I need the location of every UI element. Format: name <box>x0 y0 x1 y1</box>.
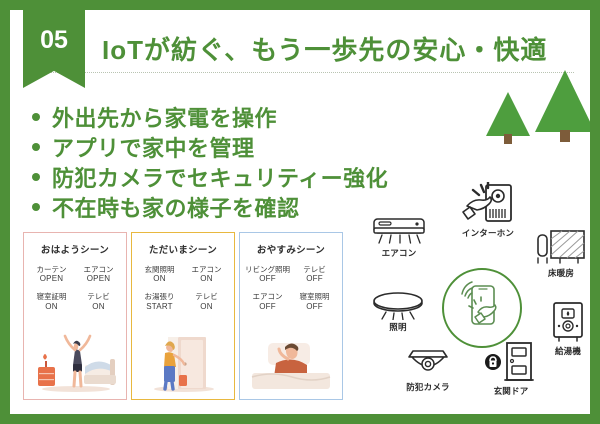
scene-device-cell: エアコン ON <box>183 265 230 284</box>
device-state: START <box>136 302 183 312</box>
scene-card-goodnight: おやすみシーン リビング照明 OFF テレビ OFF エアコン OFF <box>239 232 343 400</box>
pine-tree-icon <box>535 70 590 142</box>
smartphone-tap-wifi-icon <box>444 270 519 345</box>
device-state: OFF <box>244 302 291 312</box>
smartphone-hub-badge <box>442 268 522 348</box>
device-state: ON <box>28 302 75 312</box>
scene-card-homecoming: ただいまシーン 玄関照明 ON エアコン ON お湯張り START <box>131 232 235 400</box>
scene-card-title: ただいまシーン <box>132 242 234 256</box>
tree-trunk-shape <box>560 130 570 142</box>
slide-canvas: 05 IoTが紡ぐ、もう一歩先の安心・快適 外出先から家電を操作 アプリで家中を… <box>0 0 600 424</box>
scene-device-cell: お湯張り START <box>136 292 183 311</box>
feature-bullet-list: 外出先から家電を操作 アプリで家中を管理 防犯カメラでセキュリティー強化 不在時… <box>32 102 472 222</box>
device-icon-caption: 玄関ドア <box>473 385 549 397</box>
device-icon-caption: エアコン <box>364 247 434 259</box>
device-icon-security-camera: 防犯カメラ <box>388 346 468 393</box>
device-icon-caption: 給湯機 <box>537 345 590 357</box>
scene-card-group: おはようシーン カーテン OPEN エアコン OPEN 寝室証明 ON <box>23 232 343 400</box>
scene-card-title: おやすみシーン <box>240 242 342 256</box>
device-state: ON <box>183 302 230 312</box>
device-state: OFF <box>291 302 338 312</box>
device-label: お湯張り <box>136 292 183 301</box>
device-label: テレビ <box>291 265 338 274</box>
device-label: カーテン <box>28 265 75 274</box>
device-label: 玄関照明 <box>136 265 183 274</box>
scene-card-morning: おはようシーン カーテン OPEN エアコン OPEN 寝室証明 ON <box>23 232 127 400</box>
air-conditioner-icon <box>371 216 427 246</box>
page-title: IoTが紡ぐ、もう一歩先の安心・快適 <box>102 30 572 67</box>
intercom-icon <box>459 182 517 226</box>
scene-device-grid: 玄関照明 ON エアコン ON お湯張り START テレビ ON <box>132 265 234 312</box>
slide-inner-panel: 05 IoTが紡ぐ、もう一歩先の安心・快適 外出先から家電を操作 アプリで家中を… <box>10 10 590 414</box>
scene-device-cell: テレビ ON <box>183 292 230 311</box>
scene-card-title: おはようシーン <box>24 242 126 256</box>
dome-camera-icon <box>404 346 452 380</box>
device-state: OFF <box>244 274 291 284</box>
scene-illustration-homecoming <box>138 331 227 393</box>
device-state: OPEN <box>75 274 122 284</box>
device-state: OPEN <box>28 274 75 284</box>
bullet-label: 防犯カメラでセキュリティー強化 <box>52 161 388 193</box>
scene-device-grid: リビング照明 OFF テレビ OFF エアコン OFF 寝室照明 OFF <box>240 265 342 312</box>
device-icon-water-heater: 給湯機 <box>537 300 590 357</box>
water-heater-icon <box>549 300 587 344</box>
scene-device-cell: テレビ ON <box>75 292 122 311</box>
device-icon-lighting: 照明 <box>366 292 430 333</box>
header-dotted-divider <box>26 72 574 73</box>
pine-tree-small-icon <box>486 92 530 144</box>
section-number: 05 <box>23 26 85 55</box>
device-state: OFF <box>291 274 338 284</box>
scene-device-cell: エアコン OFF <box>244 292 291 311</box>
scene-device-cell: リビング照明 OFF <box>244 265 291 284</box>
device-icon-caption: 床暖房 <box>526 267 590 279</box>
device-state: ON <box>136 274 183 284</box>
list-item: アプリで家中を管理 <box>32 132 472 162</box>
device-label: エアコン <box>183 265 230 274</box>
ceiling-light-icon <box>371 292 425 320</box>
list-item: 防犯カメラでセキュリティー強化 <box>32 162 472 192</box>
device-label: 寝室証明 <box>28 292 75 301</box>
device-icon-caption: 照明 <box>366 321 430 333</box>
section-number-ribbon: 05 <box>23 10 85 88</box>
scene-device-cell: エアコン OPEN <box>75 265 122 284</box>
bullet-label: アプリで家中を管理 <box>52 131 255 163</box>
device-icon-floor-heating: 床暖房 <box>526 228 590 279</box>
floor-heating-icon <box>534 228 588 266</box>
scene-illustration-morning <box>30 331 119 393</box>
device-label: エアコン <box>244 292 291 301</box>
bullet-dot-icon <box>32 173 40 181</box>
device-icon-aircon: エアコン <box>364 216 434 259</box>
tree-trunk-shape <box>504 134 512 144</box>
scene-device-cell: カーテン OPEN <box>28 265 75 284</box>
scene-device-cell: 寝室証明 ON <box>28 292 75 311</box>
bullet-label: 不在時も家の様子を確認 <box>52 191 300 223</box>
bullet-dot-icon <box>32 113 40 121</box>
scene-device-cell: 寝室照明 OFF <box>291 292 338 311</box>
tree-crown-shape <box>486 92 530 136</box>
tree-crown-shape <box>535 70 590 132</box>
device-state: ON <box>75 302 122 312</box>
list-item: 外出先から家電を操作 <box>32 102 472 132</box>
scene-device-grid: カーテン OPEN エアコン OPEN 寝室証明 ON テレビ ON <box>24 265 126 312</box>
device-label: テレビ <box>75 292 122 301</box>
device-icon-caption: 防犯カメラ <box>388 381 468 393</box>
scene-device-cell: テレビ OFF <box>291 265 338 284</box>
device-state: ON <box>183 274 230 284</box>
device-label: テレビ <box>183 292 230 301</box>
device-label: エアコン <box>75 265 122 274</box>
bullet-dot-icon <box>32 143 40 151</box>
device-label: 寝室照明 <box>291 292 338 301</box>
scene-illustration-goodnight <box>246 331 335 393</box>
device-label: リビング照明 <box>244 265 291 274</box>
scene-device-cell: 玄関照明 ON <box>136 265 183 284</box>
bullet-label: 外出先から家電を操作 <box>52 101 277 133</box>
bullet-dot-icon <box>32 203 40 211</box>
